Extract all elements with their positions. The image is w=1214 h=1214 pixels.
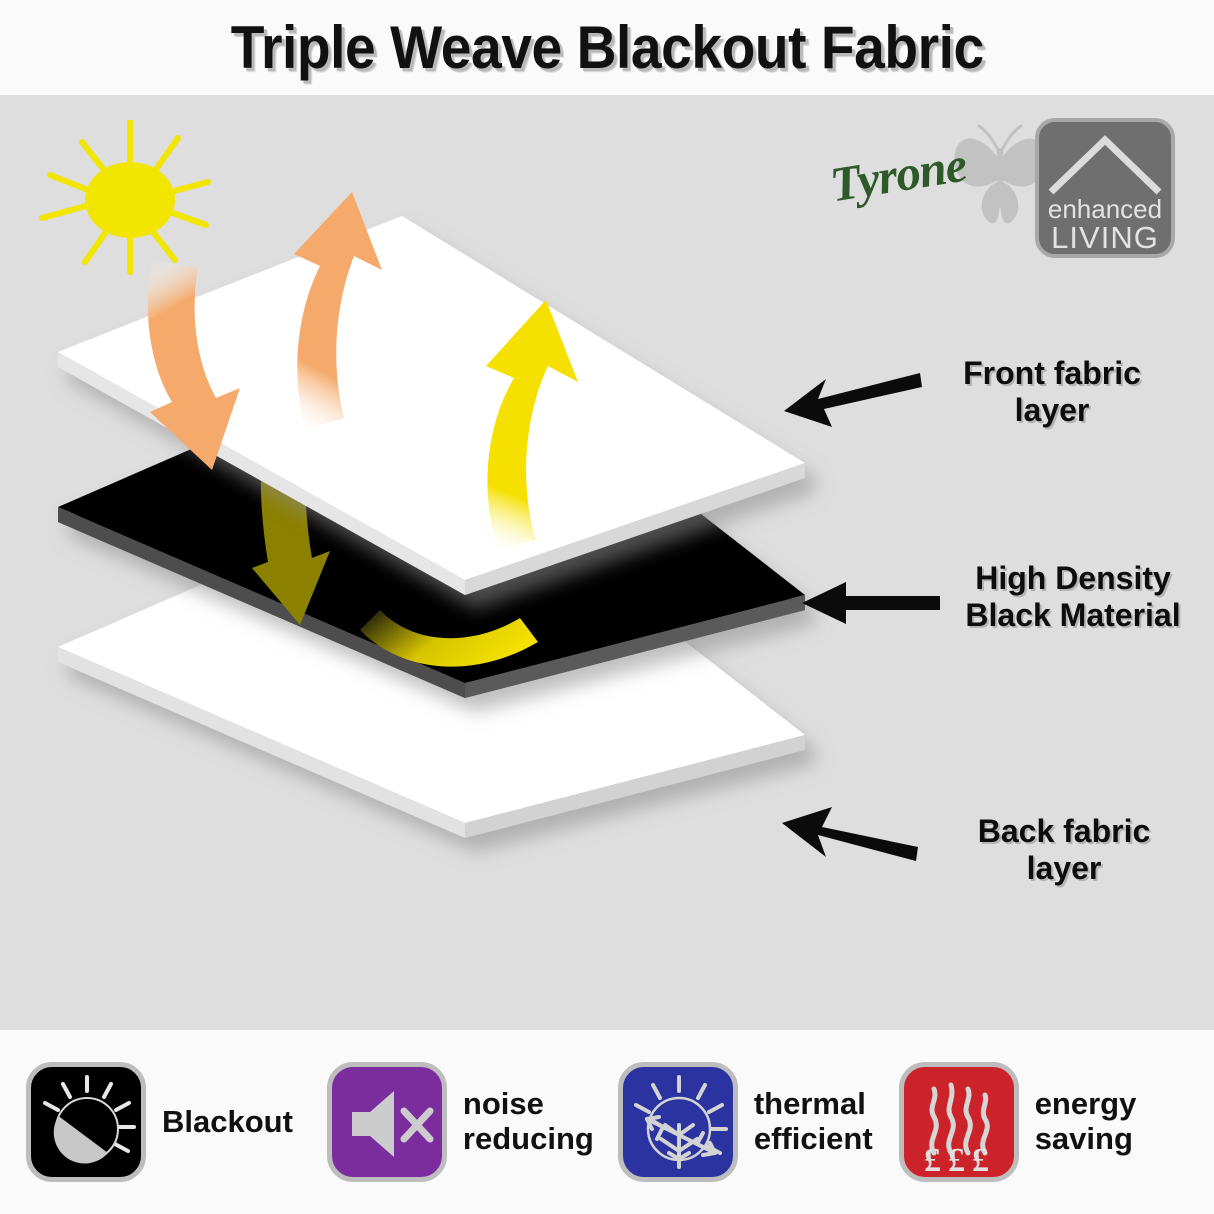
page-title: Triple Weave Blackout Fabric — [230, 13, 983, 82]
feature-thermal-line2: efficient — [754, 1122, 873, 1157]
feature-thermal-label: thermal efficient — [754, 1087, 873, 1156]
heat-pounds-icon: £ £ £ — [899, 1062, 1019, 1182]
callout-middle-line1: High Density — [928, 560, 1214, 597]
feature-energy-line2: saving — [1035, 1122, 1137, 1157]
header-banner: Triple Weave Blackout Fabric — [0, 0, 1214, 95]
callout-front-fabric: Front fabric layer — [782, 355, 1202, 465]
feature-blackout-label: Blackout — [162, 1105, 293, 1140]
feature-energy-saving[interactable]: £ £ £ energy saving — [899, 1030, 1137, 1214]
callout-middle-line2: Black Material — [928, 597, 1214, 634]
feature-energy-label: energy saving — [1035, 1087, 1137, 1156]
half-sun-blackout-icon — [26, 1062, 146, 1182]
feature-blackout-line1: Blackout — [162, 1105, 293, 1140]
sun-snowflake-icon — [618, 1062, 738, 1182]
callout-high-density: High Density Black Material — [800, 560, 1210, 670]
callout-front-line1: Front fabric — [912, 355, 1192, 392]
brand-logos: Tyrone enhanced LIVING — [830, 118, 1190, 263]
feature-thermal-line1: thermal — [754, 1087, 873, 1122]
enhanced-living-badge: enhanced LIVING — [1035, 118, 1175, 258]
roof-chevron-icon — [1045, 130, 1165, 203]
callout-back-line2: layer — [924, 850, 1204, 887]
callout-arrow-back-icon — [778, 799, 918, 869]
badge-line-two: LIVING — [1039, 220, 1171, 256]
callout-arrow-front-icon — [782, 369, 922, 439]
muted-speaker-icon — [327, 1062, 447, 1182]
callout-back-fabric: Back fabric layer — [778, 795, 1198, 905]
infographic-canvas: Triple Weave Blackout Fabric — [0, 0, 1214, 1214]
feature-bar: Blackout noise reducing — [0, 1030, 1214, 1214]
callout-front-line2: layer — [912, 392, 1192, 429]
svg-text:£: £ — [924, 1142, 941, 1179]
feature-thermal-efficient[interactable]: thermal efficient — [618, 1030, 873, 1214]
callout-back-line1: Back fabric — [924, 813, 1204, 850]
callout-arrow-middle-icon — [800, 578, 940, 628]
fabric-layer-diagram — [0, 170, 880, 930]
svg-text:£: £ — [948, 1142, 965, 1179]
svg-text:£: £ — [972, 1142, 989, 1179]
feature-noise-line1: noise — [463, 1087, 594, 1122]
feature-blackout[interactable]: Blackout — [26, 1030, 293, 1214]
feature-energy-line1: energy — [1035, 1087, 1137, 1122]
feature-noise-label: noise reducing — [463, 1087, 594, 1156]
feature-noise-reducing[interactable]: noise reducing — [327, 1030, 594, 1214]
feature-noise-line2: reducing — [463, 1122, 594, 1157]
